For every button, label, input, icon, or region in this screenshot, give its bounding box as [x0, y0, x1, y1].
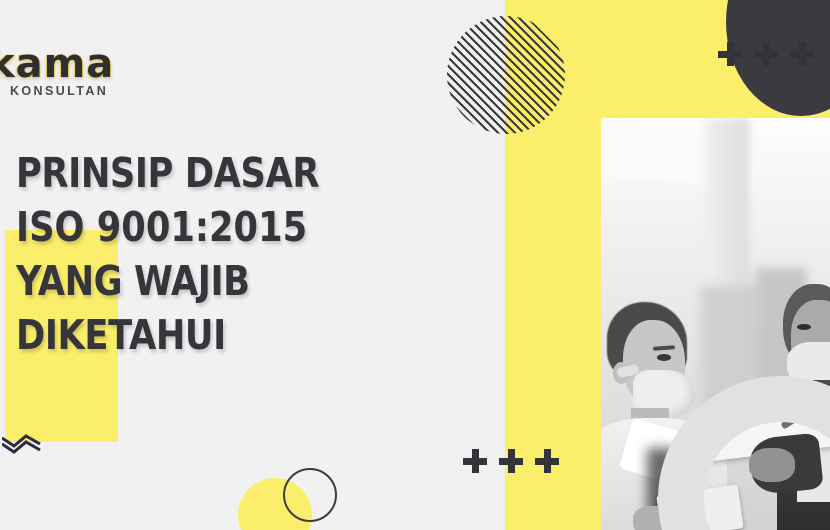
- plus-icon: [790, 42, 814, 66]
- outline-circle-decoration: [283, 468, 337, 522]
- plus-icon: [754, 42, 778, 66]
- plus-icon: [463, 449, 487, 473]
- plus-icon: [718, 42, 742, 66]
- plus-row-bottom: [463, 449, 559, 473]
- headline-line-4: DIKETAHUI: [16, 308, 412, 362]
- man-eye: [797, 324, 811, 330]
- brand-logo[interactable]: kama KONSULTAN: [0, 44, 156, 104]
- zigzag-icon: [2, 424, 62, 454]
- woman-eye: [657, 354, 671, 361]
- banner-canvas: kama KONSULTAN PRINSIP DASAR ISO 9001:20…: [0, 0, 830, 530]
- headline-line-2: ISO 9001:2015: [16, 200, 412, 254]
- headline-group: PRINSIP DASAR ISO 9001:2015 YANG WAJIB D…: [16, 146, 476, 362]
- people-photo: [601, 118, 830, 530]
- logo-wordmark: kama: [0, 44, 156, 84]
- headline-line-1: PRINSIP DASAR: [16, 146, 412, 200]
- plus-icon: [499, 449, 523, 473]
- plus-icon: [535, 449, 559, 473]
- plus-row-top: [718, 42, 814, 66]
- striped-circle-decoration: [447, 16, 565, 134]
- headline-line-3: YANG WAJIB: [16, 254, 412, 308]
- logo-tagline: KONSULTAN: [0, 84, 156, 98]
